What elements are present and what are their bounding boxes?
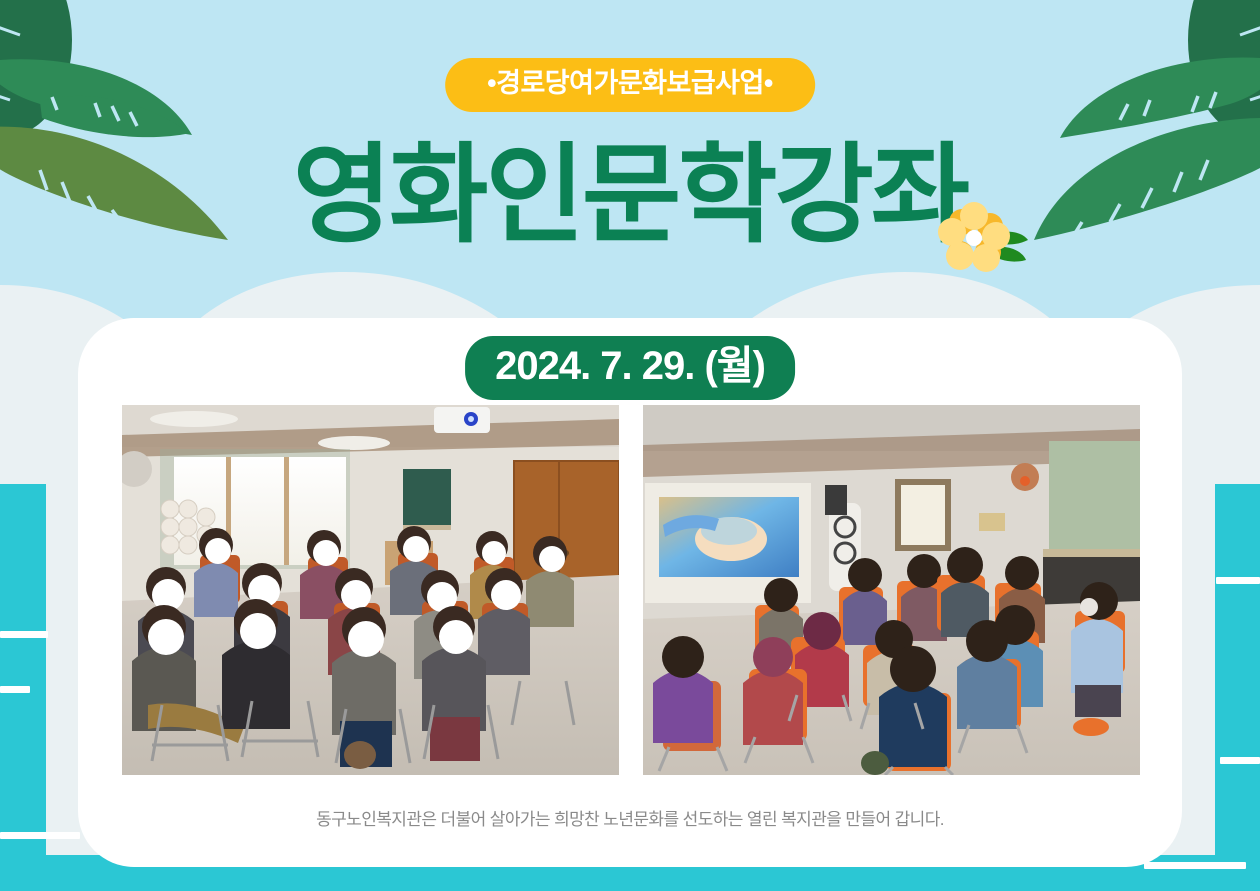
dash-mark-left-3 — [0, 832, 80, 839]
dash-mark-left-1 — [0, 631, 48, 638]
footer-note: 동구노인복지관은 더불어 살아가는 희망찬 노년문화를 선도하는 열린 복지관을… — [0, 805, 1260, 830]
page-title: 영화인문학강좌 — [293, 136, 968, 255]
dash-mark-right-1 — [1216, 577, 1260, 584]
program-badge: •경로당여가문화보급사업• — [445, 58, 815, 112]
dash-mark-left-2 — [0, 686, 30, 693]
poster-root: •경로당여가문화보급사업• 영화인문학강좌 2024. 7. 29. (월) — [0, 0, 1260, 891]
dash-mark-right-3 — [1144, 862, 1246, 869]
photo-gallery — [122, 405, 1140, 775]
poster-header: •경로당여가문화보급사업• 영화인문학강좌 — [0, 0, 1260, 318]
teal-band-right — [1215, 484, 1260, 855]
teal-band-left — [0, 484, 46, 855]
dash-mark-right-2 — [1220, 757, 1260, 764]
photo-right — [643, 405, 1140, 775]
date-badge: 2024. 7. 29. (월) — [465, 336, 795, 400]
flower-icon — [932, 196, 1028, 276]
photo-left — [122, 405, 619, 775]
